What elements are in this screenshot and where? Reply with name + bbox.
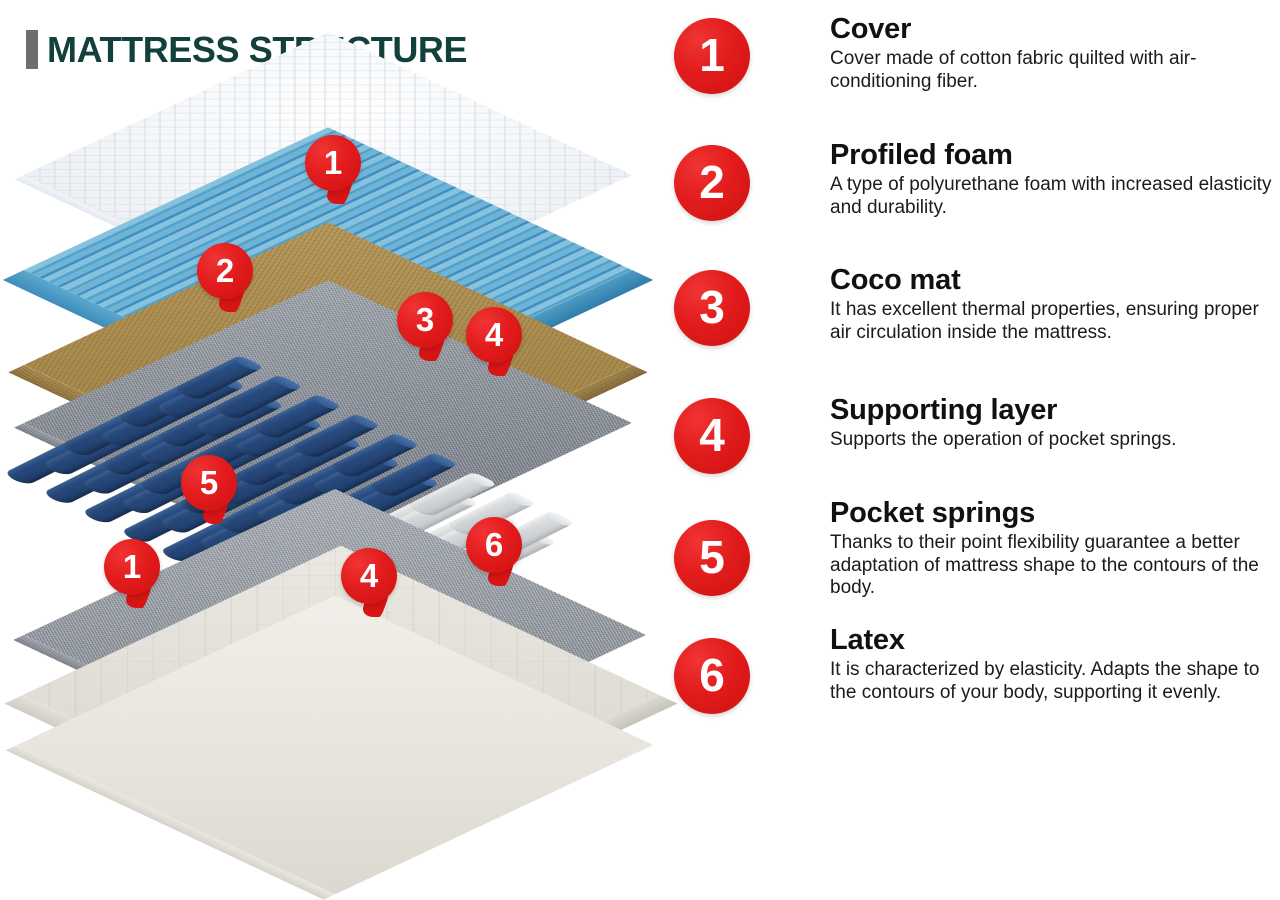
map-pin-icon: 1 [305,135,361,191]
map-pin-icon: 3 [397,292,453,348]
legend-item-description: Thanks to their point flexibility guaran… [830,532,1280,600]
legend-item-title: Profiled foam [830,140,1280,172]
marker-number: 2 [216,254,234,287]
map-pin-icon: 2 [197,243,253,299]
marker-number: 4 [360,559,378,592]
illustration-marker-profiled-foam-1: 2 [197,243,253,299]
illustration-marker-cover-7: 1 [104,539,160,595]
title-accent-bar [26,30,38,69]
mattress-illustration: 12345461 [0,70,650,730]
marker-number: 2 [699,159,725,205]
map-pin: 6 [674,638,750,714]
map-pin-icon: 5 [674,520,750,596]
legend-item-title: Coco mat [830,265,1280,297]
marker-number: 5 [200,466,218,499]
legend-item-title: Supporting layer [830,395,1280,427]
illustration-layer-latex-base [30,630,650,820]
map-pin-icon: 3 [674,270,750,346]
marker-number: 1 [324,146,342,179]
map-pin-icon: 5 [181,455,237,511]
marker-number: 4 [485,318,503,351]
marker-number: 6 [699,652,725,698]
legend-item-description: A type of polyurethane foam with increas… [830,174,1280,219]
map-pin-icon: 1 [104,539,160,595]
map-pin-icon: 4 [466,307,522,363]
map-pin-icon: 4 [674,398,750,474]
legend-item-title: Cover [830,14,1280,46]
illustration-marker-pocket-springs-4: 5 [181,455,237,511]
map-pin: 5 [674,520,750,596]
marker-number: 3 [416,303,434,336]
map-pin-icon: 4 [341,548,397,604]
map-pin: 3 [674,270,750,346]
illustration-marker-supporting-layer-3: 4 [466,307,522,363]
legend-list: 1CoverCover made of cotton fabric quilte… [660,0,1280,743]
marker-number: 5 [699,534,725,580]
legend-item-title: Latex [830,625,1280,657]
illustration-marker-latex-6: 6 [466,517,522,573]
legend-item-description: It is characterized by elasticity. Adapt… [830,659,1280,704]
illustration-marker-supporting-layer-5: 4 [341,548,397,604]
marker-number: 1 [123,550,141,583]
legend-item-description: It has excellent thermal properties, ens… [830,299,1280,344]
marker-number: 1 [699,32,725,78]
map-pin-icon: 1 [674,18,750,94]
map-pin: 1 [674,18,750,94]
illustration-marker-coco-mat-2: 3 [397,292,453,348]
marker-number: 6 [485,528,503,561]
map-pin: 2 [674,145,750,221]
illustration-marker-cover-0: 1 [305,135,361,191]
page-header: MATTRESS STRUCTURE [26,30,467,69]
legend-item-description: Supports the operation of pocket springs… [830,429,1280,452]
legend-item-description: Cover made of cotton fabric quilted with… [830,48,1280,93]
marker-number: 4 [699,412,725,458]
page-title: MATTRESS STRUCTURE [47,32,467,68]
marker-number: 3 [699,284,725,330]
legend-item-title: Pocket springs [830,498,1280,530]
map-pin-icon: 6 [466,517,522,573]
map-pin: 4 [674,398,750,474]
map-pin-icon: 6 [674,638,750,714]
map-pin-icon: 2 [674,145,750,221]
